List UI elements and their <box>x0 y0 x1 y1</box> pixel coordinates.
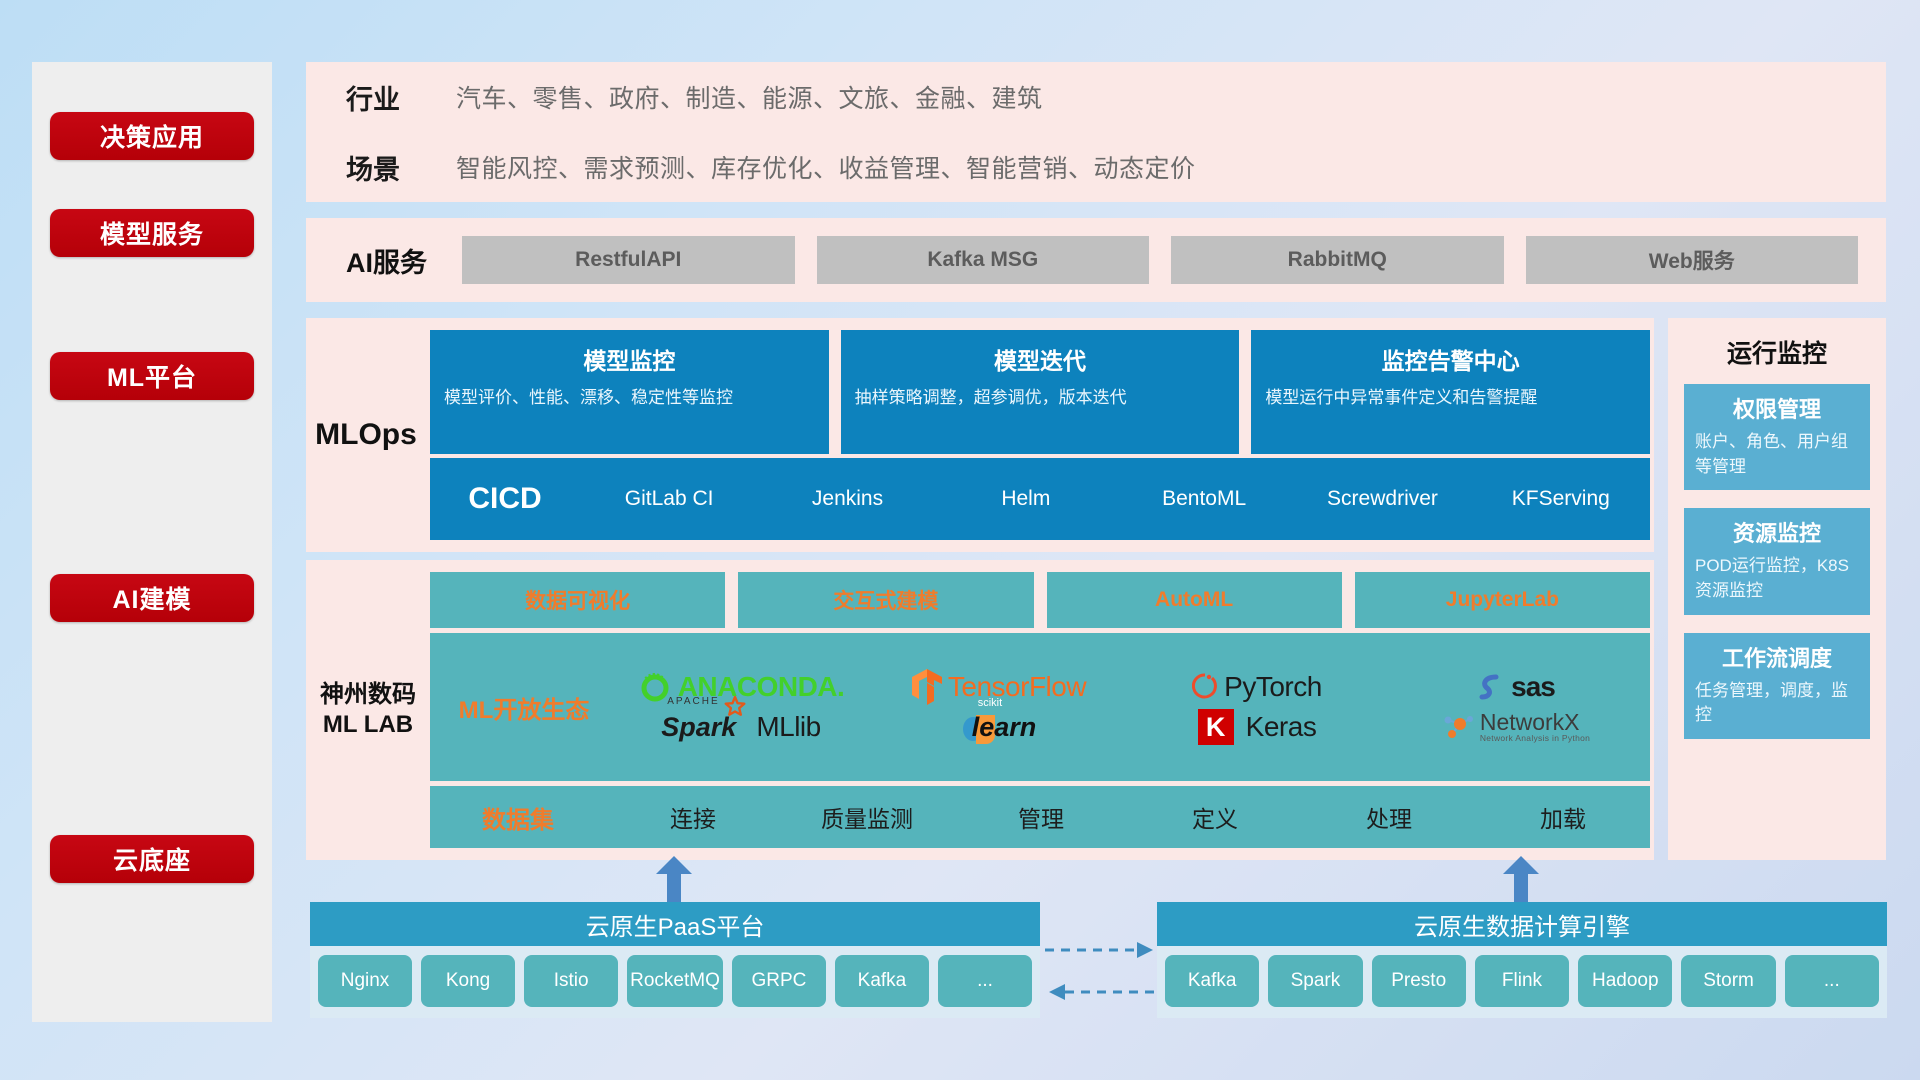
industry-label: 行业 <box>346 78 456 117</box>
runtime-monitor-title: 运行监控 <box>1684 334 1870 370</box>
card-title: 权限管理 <box>1695 392 1859 424</box>
cloud-chip-flink[interactable]: Flink <box>1475 955 1569 1007</box>
card-title: 工作流调度 <box>1695 641 1859 673</box>
cloud-paas-chip-list: Nginx Kong Istio RocketMQ GRPC Kafka ... <box>310 946 1040 1018</box>
dataset-item-load[interactable]: 加载 <box>1476 800 1650 834</box>
card-desc: 账户、角色、用户组等管理 <box>1695 430 1859 479</box>
cloud-link-arrows <box>1045 938 1157 1004</box>
dataset-item-manage[interactable]: 管理 <box>954 800 1128 834</box>
monitor-card-resource[interactable]: 资源监控 POD运行监控，K8S资源监控 <box>1684 508 1870 614</box>
logo-scikit-learn: scikit learn <box>962 707 1037 747</box>
scenario-row: 场景 智能风控、需求预测、库存优化、收益管理、智能营销、动态定价 <box>306 132 1886 202</box>
rail-item-ml-platform[interactable]: ML平台 <box>50 352 254 400</box>
scikit-learn-wordmark: scikit learn <box>972 712 1037 743</box>
dataset-item-define[interactable]: 定义 <box>1128 800 1302 834</box>
tool-chip-automl[interactable]: AutoML <box>1047 572 1342 628</box>
card-title: 监控告警中心 <box>1265 342 1636 376</box>
mlops-label: MLOps <box>306 418 430 452</box>
ai-service-chip-restfulapi[interactable]: RestfulAPI <box>462 236 795 284</box>
ml-ecosystem-label: ML开放生态 <box>436 690 612 725</box>
cloud-chip-storm[interactable]: Storm <box>1681 955 1775 1007</box>
scikit-text: scikit <box>978 697 1002 709</box>
cloud-paas-title: 云原生PaaS平台 <box>310 902 1040 946</box>
card-title: 模型迭代 <box>855 342 1226 376</box>
card-desc: 模型运行中异常事件定义和告警提醒 <box>1265 386 1636 411</box>
arrow-right-icon <box>1137 942 1153 958</box>
cicd-item-bentoml[interactable]: BentoML <box>1115 487 1293 511</box>
dataset-item-list: 连接 质量监测 管理 定义 处理 加载 <box>606 800 1650 834</box>
networkx-wordmark: NetworkX Network Analysis in Python <box>1480 711 1590 743</box>
cloud-paas-block: 云原生PaaS平台 Nginx Kong Istio RocketMQ GRPC… <box>310 902 1040 1018</box>
card-desc: 任务管理，调度，监控 <box>1695 679 1859 728</box>
ai-service-chip-list: RestfulAPI Kafka MSG RabbitMQ Web服务 <box>462 236 1858 284</box>
ml-lab-label-line2: ML LAB <box>306 710 430 740</box>
mlops-content: 模型监控 模型评价、性能、漂移、稳定性等监控 模型迭代 抽样策略调整，超参调优，… <box>430 330 1654 540</box>
ai-service-label: AI服务 <box>334 241 462 280</box>
cloud-chip-nginx[interactable]: Nginx <box>318 955 412 1007</box>
logo-networkx-text: NetworkX <box>1480 711 1590 734</box>
logo-spark-mllib: APACHE Spark MLlib <box>661 711 820 743</box>
ml-ecosystem-row: ML开放生态 ANACONDA. TensorFlow PyTorch sas <box>430 633 1650 781</box>
spark-apache-text: APACHE <box>667 696 719 707</box>
cloud-chip-kafka[interactable]: Kafka <box>835 955 929 1007</box>
ml-lab-tool-list: 数据可视化 交互式建模 AutoML JupyterLab <box>430 572 1650 628</box>
ai-service-chip-rabbitmq[interactable]: RabbitMQ <box>1171 236 1504 284</box>
ml-lab-panel: 神州数码 ML LAB 数据可视化 交互式建模 AutoML JupyterLa… <box>306 560 1654 860</box>
logo-keras-text: Keras <box>1246 711 1317 743</box>
logo-sas-text: sas <box>1511 671 1555 703</box>
ai-service-chip-kafka-msg[interactable]: Kafka MSG <box>817 236 1150 284</box>
tool-chip-data-visualization[interactable]: 数据可视化 <box>430 572 725 628</box>
logo-tensorflow-text: TensorFlow <box>948 671 1086 703</box>
cloud-chip-grpc[interactable]: GRPC <box>732 955 826 1007</box>
cloud-chip-kafka-data[interactable]: Kafka <box>1165 955 1259 1007</box>
cloud-chip-hadoop[interactable]: Hadoop <box>1578 955 1672 1007</box>
decision-apps-panel: 行业 汽车、零售、政府、制造、能源、文旅、金融、建筑 场景 智能风控、需求预测、… <box>306 62 1886 202</box>
industry-value: 汽车、零售、政府、制造、能源、文旅、金融、建筑 <box>456 79 1043 115</box>
logo-keras: K Keras <box>1198 709 1317 745</box>
tool-chip-interactive-modeling[interactable]: 交互式建模 <box>738 572 1033 628</box>
rail-item-decision-apps[interactable]: 决策应用 <box>50 112 254 160</box>
cloud-data-engine-chip-list: Kafka Spark Presto Flink Hadoop Storm ..… <box>1157 946 1887 1018</box>
cicd-bar: CICD GitLab CI Jenkins Helm BentoML Scre… <box>430 458 1650 540</box>
logo-pytorch-text: PyTorch <box>1224 671 1322 703</box>
ml-lab-label: 神州数码 ML LAB <box>306 680 430 740</box>
cloud-chip-more-data[interactable]: ... <box>1785 955 1879 1007</box>
cloud-data-engine-title: 云原生数据计算引擎 <box>1157 902 1887 946</box>
card-desc: 模型评价、性能、漂移、稳定性等监控 <box>444 386 815 411</box>
ml-ecosystem-logo-grid: ANACONDA. TensorFlow PyTorch sas APACH <box>612 667 1644 747</box>
cloud-data-engine-block: 云原生数据计算引擎 Kafka Spark Presto Flink Hadoo… <box>1157 902 1887 1018</box>
sas-icon <box>1475 672 1505 702</box>
left-stage-rail: 决策应用 模型服务 ML平台 AI建模 云底座 <box>32 62 272 1022</box>
tool-chip-jupyterlab[interactable]: JupyterLab <box>1355 572 1650 628</box>
rail-item-model-service[interactable]: 模型服务 <box>50 209 254 257</box>
ai-service-chip-web[interactable]: Web服务 <box>1526 236 1859 284</box>
card-title: 资源监控 <box>1695 516 1859 548</box>
mlops-card-list: 模型监控 模型评价、性能、漂移、稳定性等监控 模型迭代 抽样策略调整，超参调优，… <box>430 330 1650 454</box>
cicd-title: CICD <box>430 482 580 516</box>
logo-pytorch: PyTorch <box>1192 671 1322 703</box>
card-desc: POD运行监控，K8S资源监控 <box>1695 554 1859 603</box>
ai-service-panel: AI服务 RestfulAPI Kafka MSG RabbitMQ Web服务 <box>306 218 1886 302</box>
cloud-chip-istio[interactable]: Istio <box>524 955 618 1007</box>
ml-lab-label-line1: 神州数码 <box>306 680 430 710</box>
card-desc: 抽样策略调整，超参调优，版本迭代 <box>855 386 1226 411</box>
mlops-card-model-iteration[interactable]: 模型迭代 抽样策略调整，超参调优，版本迭代 <box>841 330 1240 454</box>
cicd-item-list: GitLab CI Jenkins Helm BentoML Screwdriv… <box>580 487 1650 511</box>
dataset-label: 数据集 <box>430 800 606 835</box>
runtime-monitor-panel: 运行监控 权限管理 账户、角色、用户组等管理 资源监控 POD运行监控，K8S资… <box>1668 318 1886 860</box>
rail-item-ai-modeling[interactable]: AI建模 <box>50 574 254 622</box>
ml-lab-content: 数据可视化 交互式建模 AutoML JupyterLab ML开放生态 ANA… <box>430 572 1654 848</box>
cicd-item-gitlab-ci[interactable]: GitLab CI <box>580 487 758 511</box>
monitor-card-workflow[interactable]: 工作流调度 任务管理，调度，监控 <box>1684 633 1870 739</box>
dataset-row: 数据集 连接 质量监测 管理 定义 处理 加载 <box>430 786 1650 848</box>
dataset-item-process[interactable]: 处理 <box>1302 800 1476 834</box>
card-title: 模型监控 <box>444 342 815 376</box>
logo-networkx: NetworkX Network Analysis in Python <box>1440 711 1590 743</box>
industry-row: 行业 汽车、零售、政府、制造、能源、文旅、金融、建筑 <box>306 62 1886 132</box>
cicd-item-jenkins[interactable]: Jenkins <box>758 487 936 511</box>
logo-sas: sas <box>1475 671 1555 703</box>
arrow-left-icon <box>1049 984 1065 1000</box>
cloud-chip-kong[interactable]: Kong <box>421 955 515 1007</box>
scenario-value: 智能风控、需求预测、库存优化、收益管理、智能营销、动态定价 <box>456 149 1196 185</box>
monitor-card-permission[interactable]: 权限管理 账户、角色、用户组等管理 <box>1684 384 1870 490</box>
networkx-subtitle: Network Analysis in Python <box>1480 734 1590 743</box>
spark-wordmark: APACHE Spark <box>661 712 736 743</box>
cicd-item-kfserving[interactable]: KFServing <box>1472 487 1650 511</box>
cloud-chip-rocketmq[interactable]: RocketMQ <box>627 955 723 1007</box>
learn-text: learn <box>972 712 1037 742</box>
pytorch-icon <box>1192 671 1218 703</box>
dataset-item-quality-check[interactable]: 质量监测 <box>780 800 954 834</box>
cloud-chip-more[interactable]: ... <box>938 955 1032 1007</box>
logo-mllib-text: MLlib <box>756 711 820 743</box>
tensorflow-icon <box>912 669 942 705</box>
spark-star-icon <box>724 696 746 718</box>
cicd-item-screwdriver[interactable]: Screwdriver <box>1293 487 1471 511</box>
keras-k-icon: K <box>1198 709 1234 745</box>
cloud-chip-spark[interactable]: Spark <box>1268 955 1362 1007</box>
rail-item-cloud-base[interactable]: 云底座 <box>50 835 254 883</box>
cloud-chip-presto[interactable]: Presto <box>1372 955 1466 1007</box>
mlops-card-model-monitoring[interactable]: 模型监控 模型评价、性能、漂移、稳定性等监控 <box>430 330 829 454</box>
networkx-icon <box>1440 712 1474 742</box>
mlops-card-alert-center[interactable]: 监控告警中心 模型运行中异常事件定义和告警提醒 <box>1251 330 1650 454</box>
cicd-item-helm[interactable]: Helm <box>937 487 1115 511</box>
data-engine-up-arrow-icon <box>1503 856 1539 900</box>
paas-up-arrow-icon <box>656 856 692 900</box>
dataset-item-connect[interactable]: 连接 <box>606 800 780 834</box>
mlops-panel: MLOps 模型监控 模型评价、性能、漂移、稳定性等监控 模型迭代 抽样策略调整… <box>306 318 1654 552</box>
scenario-label: 场景 <box>346 148 456 187</box>
